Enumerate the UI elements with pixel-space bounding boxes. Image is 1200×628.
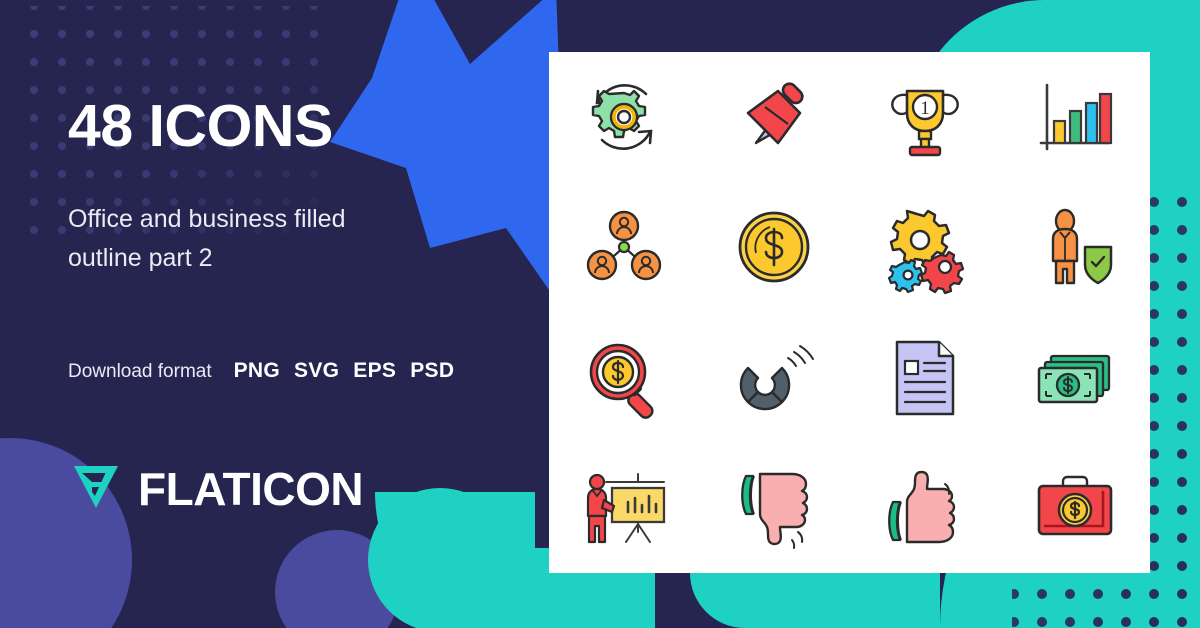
icon-cell-banknotes-icon[interactable] xyxy=(1000,313,1150,443)
icon-cell-gear-refresh-icon[interactable] xyxy=(549,52,699,182)
icon-cell-briefcase-money-icon[interactable] xyxy=(1000,443,1150,573)
download-format-row: Download format PNG SVG EPS PSD xyxy=(68,359,528,383)
icon-cell-document-icon[interactable] xyxy=(850,313,1000,443)
icon-cell-search-money-icon[interactable] xyxy=(549,313,699,443)
icon-cell-presentation-icon[interactable] xyxy=(549,443,699,573)
banner-text-column: 48 ICONS Office and business filled outl… xyxy=(68,96,528,383)
flaticon-logo[interactable]: FLATICON xyxy=(68,458,363,519)
icon-cell-user-network-icon[interactable] xyxy=(549,182,699,312)
icon-cell-trophy-icon[interactable]: 1 xyxy=(850,52,1000,182)
icon-cell-dollar-coin-icon[interactable] xyxy=(699,182,849,312)
format-psd[interactable]: PSD xyxy=(410,359,454,383)
icon-cell-gears-icon[interactable] xyxy=(850,182,1000,312)
format-svg[interactable]: SVG xyxy=(294,359,339,383)
format-list: PNG SVG EPS PSD xyxy=(234,359,455,383)
flaticon-logo-icon xyxy=(68,458,124,519)
flaticon-logo-text: FLATICON xyxy=(138,462,363,516)
page-title: 48 ICONS xyxy=(68,96,528,158)
icon-cell-bar-chart-icon[interactable] xyxy=(1000,52,1150,182)
format-png[interactable]: PNG xyxy=(234,359,280,383)
page-subtitle: Office and business filled outline part … xyxy=(68,200,408,278)
icon-cell-thumbs-down-icon[interactable] xyxy=(699,443,849,573)
icon-grid-card: 1 xyxy=(549,52,1150,573)
icon-cell-magnet-icon[interactable] xyxy=(699,313,849,443)
icon-cell-thumbs-up-icon[interactable] xyxy=(850,443,1000,573)
download-format-label: Download format xyxy=(68,361,212,383)
icon-cell-person-shield-icon[interactable] xyxy=(1000,182,1150,312)
svg-text:1: 1 xyxy=(920,98,930,119)
icon-cell-pushpin-icon[interactable] xyxy=(699,52,849,182)
format-eps[interactable]: EPS xyxy=(353,359,396,383)
banner-stage: 48 ICONS Office and business filled outl… xyxy=(0,0,1200,628)
